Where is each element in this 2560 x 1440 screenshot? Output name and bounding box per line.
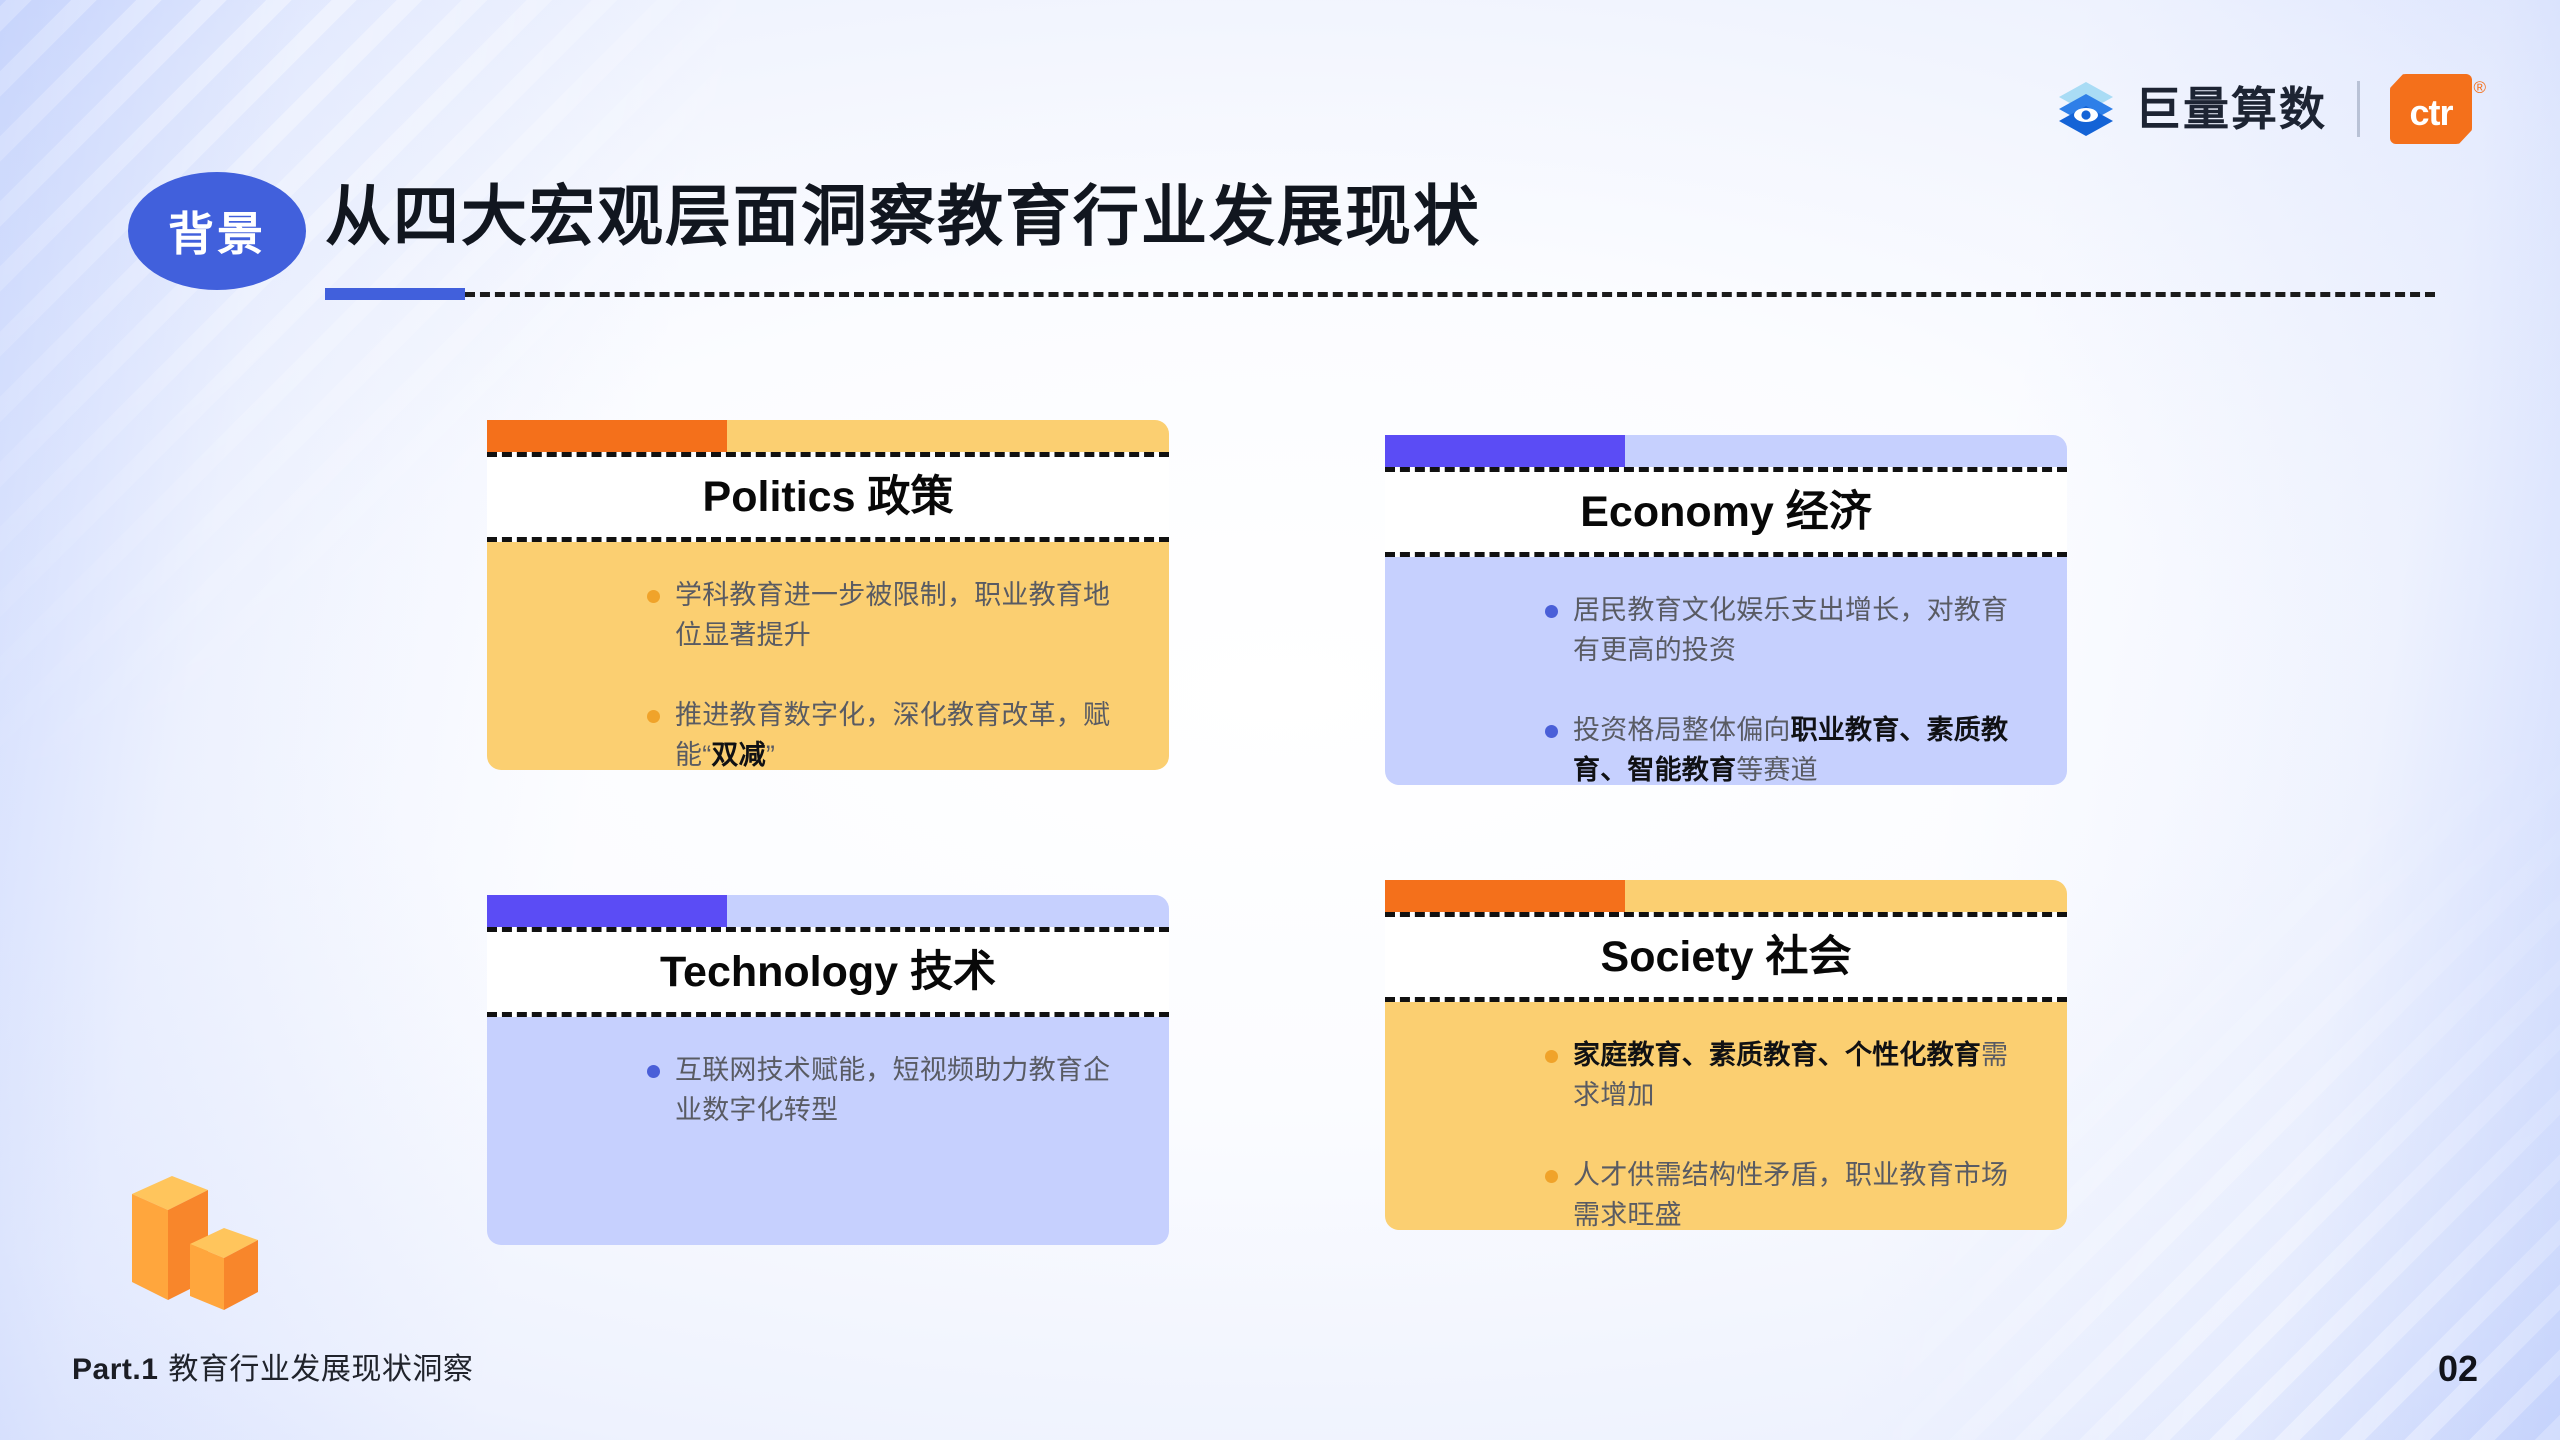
bullet-dot-icon — [1545, 725, 1558, 738]
card-title-band: Technology 技术 — [487, 927, 1169, 1017]
card-bullets: 互联网技术赋能，短视频助力教育企业数字化转型 — [487, 1021, 1169, 1171]
card-title: Technology 技术 — [660, 951, 996, 994]
list-item: 人才供需结构性矛盾，职业教育市场需求旺盛 — [1545, 1156, 2033, 1230]
footer-part-label: Part.1 — [72, 1353, 158, 1387]
list-item: 学科教育进一步被限制，职业教育地位显著提升 — [647, 576, 1135, 656]
bullet-text: 居民教育文化娱乐支出增长，对教育有更高的投资 — [1573, 591, 2033, 671]
bullet-dot-icon — [1545, 1050, 1558, 1063]
brand-logo: 巨量算数 — [2053, 76, 2327, 142]
card-title: Society 社会 — [1601, 936, 1852, 979]
card-title-band: Politics 政策 — [487, 452, 1169, 542]
page-title: 从四大宏观层面洞察教育行业发展现状 — [325, 180, 1481, 253]
bullet-text: 学科教育进一步被限制，职业教育地位显著提升 — [675, 576, 1135, 656]
card-tab — [1385, 880, 1625, 912]
list-item: 家庭教育、素质教育、个性化教育需求增加 — [1545, 1036, 2033, 1116]
bullet-text: 互联网技术赋能，短视频助力教育企业数字化转型 — [675, 1051, 1135, 1131]
footer-caption: Part.1 教育行业发展现状洞察 — [72, 1344, 473, 1388]
card-economy: Economy 经济 居民教育文化娱乐支出增长，对教育有更高的投资 投资格局整体… — [1385, 405, 2067, 785]
hexagon-layers-icon — [2053, 76, 2119, 142]
card-body: Society 社会 家庭教育、素质教育、个性化教育需求增加 人才供需结构性矛盾… — [1385, 880, 2067, 1230]
card-body: Politics 政策 学科教育进一步被限制，职业教育地位显著提升 推进教育数字… — [487, 420, 1169, 770]
ctr-logo-text: ctr — [2409, 95, 2452, 131]
bullet-dot-icon — [1545, 605, 1558, 618]
bullet-text: 家庭教育、素质教育、个性化教育需求增加 — [1573, 1036, 2033, 1116]
card-tab — [487, 895, 727, 927]
header-logos: 巨量算数 ctr ® — [2053, 72, 2472, 146]
page-number: 02 — [2438, 1348, 2478, 1390]
card-society: Society 社会 家庭教育、素质教育、个性化教育需求增加 人才供需结构性矛盾… — [1385, 850, 2067, 1230]
title-rule-dashed — [465, 292, 2435, 297]
trademark-symbol: ® — [2473, 78, 2486, 98]
title-rule-solid — [325, 288, 465, 300]
card-bullets: 学科教育进一步被限制，职业教育地位显著提升 推进教育数字化，深化教育改革，赋能“… — [487, 546, 1169, 770]
pest-card-grid: Politics 政策 学科教育进一步被限制，职业教育地位显著提升 推进教育数字… — [487, 390, 2067, 1200]
card-tab — [487, 420, 727, 452]
list-item: 互联网技术赋能，短视频助力教育企业数字化转型 — [647, 1051, 1135, 1131]
list-item: 居民教育文化娱乐支出增长，对教育有更高的投资 — [1545, 591, 2033, 671]
bullet-text: 人才供需结构性矛盾，职业教育市场需求旺盛 — [1573, 1156, 2033, 1230]
bullet-dot-icon — [647, 710, 660, 723]
card-body: Technology 技术 互联网技术赋能，短视频助力教育企业数字化转型 — [487, 895, 1169, 1245]
list-item: 推进教育数字化，深化教育改革，赋能“双减” — [647, 696, 1135, 770]
brand-name: 巨量算数 — [2135, 86, 2327, 132]
bullet-text: 投资格局整体偏向职业教育、素质教育、智能教育等赛道 — [1573, 711, 2033, 785]
card-title-band: Economy 经济 — [1385, 467, 2067, 557]
section-badge: 背景 — [128, 172, 306, 290]
list-item: 投资格局整体偏向职业教育、素质教育、智能教育等赛道 — [1545, 711, 2033, 785]
card-body: Economy 经济 居民教育文化娱乐支出增长，对教育有更高的投资 投资格局整体… — [1385, 435, 2067, 785]
card-politics: Politics 政策 学科教育进一步被限制，职业教育地位显著提升 推进教育数字… — [487, 390, 1169, 770]
card-bullets: 家庭教育、素质教育、个性化教育需求增加 人才供需结构性矛盾，职业教育市场需求旺盛 — [1385, 1006, 2067, 1230]
ctr-logo: ctr — [2390, 74, 2472, 144]
title-rule — [325, 288, 2435, 300]
bullet-text: 推进教育数字化，深化教育改革，赋能“双减” — [675, 696, 1135, 770]
card-title: Economy 经济 — [1580, 491, 1872, 534]
bullet-dot-icon — [1545, 1170, 1558, 1183]
isometric-bars-icon — [118, 1160, 278, 1320]
bullet-dot-icon — [647, 1065, 660, 1078]
footer-part-title: 教育行业发展现状洞察 — [168, 1344, 473, 1388]
logo-divider — [2357, 81, 2360, 137]
section-badge-label: 背景 — [168, 198, 266, 264]
card-bullets: 居民教育文化娱乐支出增长，对教育有更高的投资 投资格局整体偏向职业教育、素质教育… — [1385, 561, 2067, 785]
bullet-dot-icon — [647, 590, 660, 603]
card-technology: Technology 技术 互联网技术赋能，短视频助力教育企业数字化转型 — [487, 865, 1169, 1245]
slide-root: 巨量算数 ctr ® 背景 从四大宏观层面洞察教育行业发展现状 Politics — [0, 0, 2560, 1440]
card-title: Politics 政策 — [703, 476, 954, 519]
card-title-band: Society 社会 — [1385, 912, 2067, 1002]
card-tab — [1385, 435, 1625, 467]
